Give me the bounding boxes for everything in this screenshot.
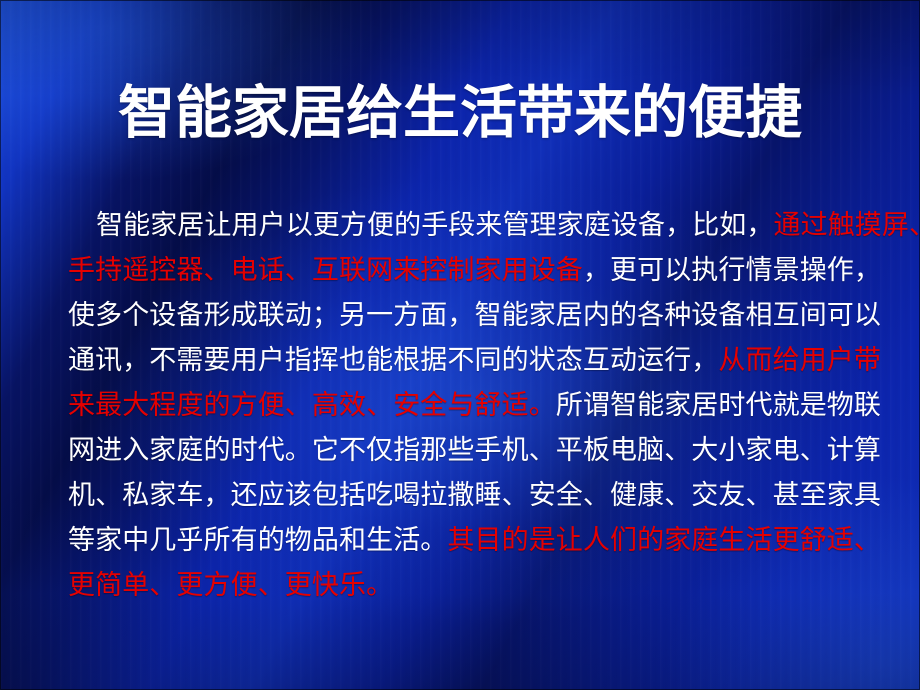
slide-body-text: 智能家居让用户以更方便的手段来管理家庭设备，比如，通过触摸屏、手持遥控器、电话、… <box>68 203 858 608</box>
slide-content: 智能家居给生活带来的便捷 智能家居让用户以更方便的手段来管理家庭设备，比如，通过… <box>0 0 920 690</box>
highlighted-text: 来最大程度的方便、高效、安全与舒适。 <box>68 390 556 421</box>
highlighted-text: 更简单、更方便、更快乐。 <box>68 570 393 601</box>
body-line: 通讯，不需要用户指挥也能根据不同的状态互动运行，从而给用户带 <box>68 338 858 383</box>
body-text: 通讯，不需要用户指挥也能根据不同的状态互动运行， <box>68 345 718 376</box>
body-line: 使多个设备形成联动；另一方面，智能家居内的各种设备相互间可以 <box>68 293 858 338</box>
body-text: 智能家居让用户以更方便的手段来管理家庭设备，比如， <box>96 210 774 241</box>
body-text: 机、私家车，还应该包括吃喝拉撒睡、安全、健康、交友、甚至家具 <box>68 480 881 511</box>
slide-title: 智能家居给生活带来的便捷 <box>0 84 920 144</box>
body-line: 等家中几乎所有的物品和生活。其目的是让人们的家庭生活更舒适、 <box>68 518 858 563</box>
body-text: 所谓智能家居时代就是物联 <box>556 390 881 421</box>
body-text: ，更可以执行情景操作， <box>583 255 881 286</box>
highlighted-text: 其目的是让人们的家庭生活更舒适、 <box>447 525 881 556</box>
body-line: 手持遥控器、电话、互联网来控制家用设备，更可以执行情景操作， <box>68 248 858 293</box>
body-line: 来最大程度的方便、高效、安全与舒适。所谓智能家居时代就是物联 <box>68 383 858 428</box>
body-text: 网进入家庭的时代。它不仅指那些手机、平板电脑、大小家电、计算 <box>68 435 881 466</box>
highlighted-text: 手持遥控器、电话、互联网来控制家用设备 <box>68 255 583 286</box>
highlighted-text: 通过触摸屏、 <box>774 210 920 241</box>
body-text: 使多个设备形成联动；另一方面，智能家居内的各种设备相互间可以 <box>68 300 881 331</box>
body-line: 网进入家庭的时代。它不仅指那些手机、平板电脑、大小家电、计算 <box>68 428 858 473</box>
body-line: 机、私家车，还应该包括吃喝拉撒睡、安全、健康、交友、甚至家具 <box>68 473 858 518</box>
body-line: 智能家居让用户以更方便的手段来管理家庭设备，比如，通过触摸屏、 <box>68 203 858 248</box>
presentation-slide: 智能家居给生活带来的便捷 智能家居让用户以更方便的手段来管理家庭设备，比如，通过… <box>0 0 920 690</box>
highlighted-text: 从而给用户带 <box>718 345 881 376</box>
body-line: 更简单、更方便、更快乐。 <box>68 563 858 608</box>
body-text: 等家中几乎所有的物品和生活。 <box>68 525 447 556</box>
